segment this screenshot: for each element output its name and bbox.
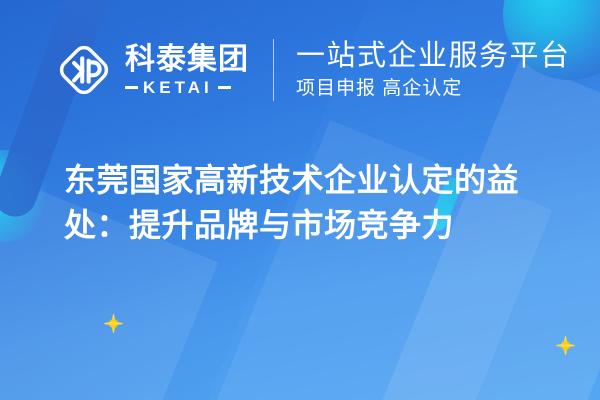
banner-header: 科泰集团 KETAI 一站式企业服务平台 项目申报 高企认定: [0, 0, 600, 140]
page-title: 东莞国家高新技术企业认定的益处：提升品牌与市场竞争力: [64, 158, 564, 249]
brand-name-cn: 科泰集团: [125, 44, 249, 76]
brand-lockup[interactable]: 科泰集团 KETAI: [55, 41, 249, 99]
tagline-main: 一站式企业服务平台: [296, 40, 571, 73]
sparkle-core: [109, 319, 118, 328]
rule-left-icon: [125, 86, 138, 89]
cyan-circle-left: [0, 150, 50, 242]
sparkle-star-left: [113, 323, 114, 324]
promo-banner: 科泰集团 KETAI 一站式企业服务平台 项目申报 高企认定 东莞国家高新技术企…: [0, 0, 600, 400]
ketai-diamond-monogram-icon: [55, 41, 113, 99]
sparkle-core: [561, 341, 570, 350]
sparkle-star-right: [565, 345, 566, 346]
tagline-sub: 项目申报 高企认定: [296, 78, 571, 100]
brand-name-en: KETAI: [143, 79, 213, 96]
wordmark: 科泰集团 KETAI: [125, 44, 249, 97]
tagline-block: 一站式企业服务平台 项目申报 高企认定: [296, 40, 571, 100]
brand-name-en-row: KETAI: [125, 79, 249, 96]
rule-right-icon: [218, 86, 231, 89]
header-divider: [273, 39, 274, 101]
